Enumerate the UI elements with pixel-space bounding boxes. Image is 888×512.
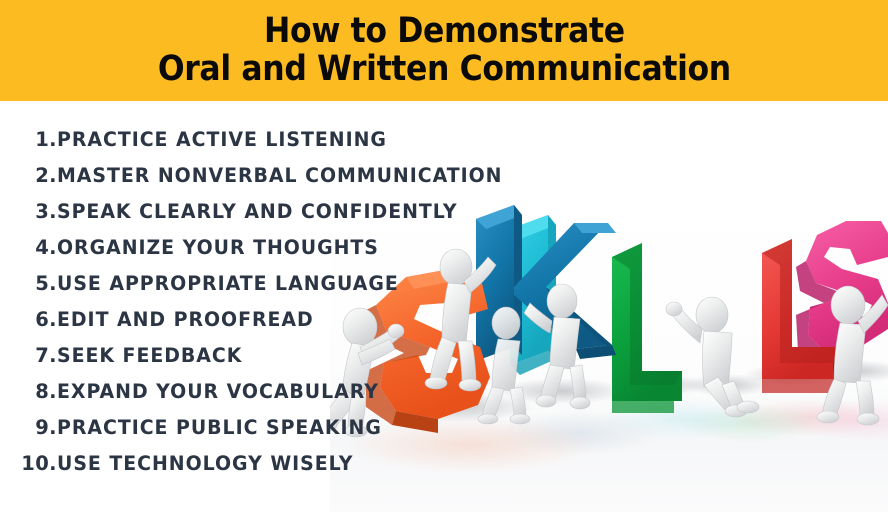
list-item-number: 9. xyxy=(0,416,57,439)
list-item-number: 7. xyxy=(0,344,57,367)
list-item-label: Expand Your Vocabulary xyxy=(57,380,379,403)
list-item-label: Master Nonverbal Communication xyxy=(57,164,502,187)
list-item-label: Practice Public Speaking xyxy=(57,416,382,439)
list-item: 9. Practice Public Speaking xyxy=(0,416,560,452)
list-item-number: 6. xyxy=(0,308,57,331)
skills-list: 1. Practice Active Listening 2. Master N… xyxy=(0,128,560,488)
list-item-number: 8. xyxy=(0,380,57,403)
list-item-number: 10. xyxy=(0,452,57,475)
list-item: 10. Use Technology Wisely xyxy=(0,452,560,488)
header-band: How to Demonstrate Oral and Written Comm… xyxy=(0,0,888,101)
page-title-line-2: Oral and Written Communication xyxy=(157,52,730,88)
list-item: 1. Practice Active Listening xyxy=(0,128,560,164)
list-item-number: 4. xyxy=(0,236,57,259)
list-item-number: 2. xyxy=(0,164,57,187)
page-title-line-1: How to Demonstrate xyxy=(264,14,625,50)
list-item-number: 5. xyxy=(0,272,57,295)
letter-l-green xyxy=(612,243,682,413)
list-item-label: Use Appropriate Language xyxy=(57,272,399,295)
list-item-label: Seek Feedback xyxy=(57,344,242,367)
list-item-label: Use Technology Wisely xyxy=(57,452,353,475)
list-item-label: Organize Your Thoughts xyxy=(57,236,379,259)
list-item-number: 1. xyxy=(0,128,57,151)
list-item-label: Edit and Proofread xyxy=(57,308,314,331)
list-item-label: Speak Clearly and Confidently xyxy=(57,200,458,223)
list-item: 7. Seek Feedback xyxy=(0,344,560,380)
poster-root: How to Demonstrate Oral and Written Comm… xyxy=(0,0,888,512)
list-item: 6. Edit and Proofread xyxy=(0,308,560,344)
list-item-number: 3. xyxy=(0,200,57,223)
list-item: 4. Organize Your Thoughts xyxy=(0,236,560,272)
list-item-label: Practice Active Listening xyxy=(57,128,387,151)
list-item: 8. Expand Your Vocabulary xyxy=(0,380,560,416)
list-item: 2. Master Nonverbal Communication xyxy=(0,164,560,200)
list-item: 5. Use Appropriate Language xyxy=(0,272,560,308)
list-item: 3. Speak Clearly and Confidently xyxy=(0,200,560,236)
